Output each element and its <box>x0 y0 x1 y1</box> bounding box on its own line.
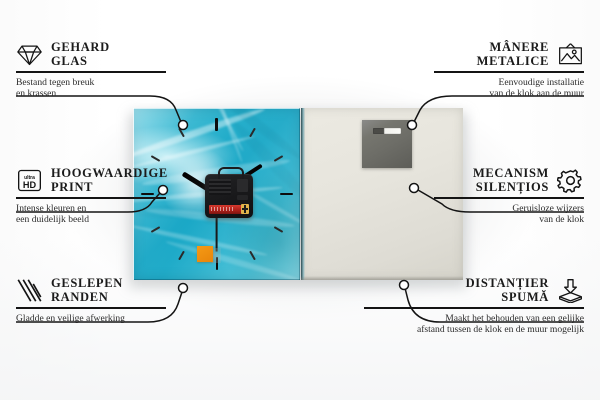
callout-rule <box>364 307 584 309</box>
movement-grill <box>209 179 231 195</box>
callout-distantier-spuma: DISTANȚIER SPUMĂ Maakt het behouden van … <box>364 276 584 336</box>
callout-geslepen-randen: GESLEPEN RANDEN Gladde en veilige afwerk… <box>16 276 166 324</box>
movement-chip <box>237 179 248 192</box>
clock-movement-part <box>205 174 253 218</box>
callout-title: GEHARD GLAS <box>51 40 110 68</box>
callout-subtitle: Eenvoudige installatie van de klok aan d… <box>434 77 584 100</box>
movement-chip-secondary <box>237 195 248 200</box>
callout-rule <box>16 307 166 309</box>
callout-manere-metalice: MÂNERE METALICE Eenvoudige installatie v… <box>434 40 584 100</box>
callout-title: GESLEPEN RANDEN <box>51 276 123 304</box>
panel-edge <box>301 108 305 280</box>
callout-subtitle: Intense kleuren en een duidelijk beeld <box>16 203 166 226</box>
product-infographic: GEHARD GLAS Bestand tegen breuk en krass… <box>0 0 600 400</box>
hanger-slot <box>373 128 401 134</box>
callout-rule <box>434 197 584 199</box>
callout-gehard-glas: GEHARD GLAS Bestand tegen breuk en krass… <box>16 40 166 100</box>
callout-subtitle: Maakt het behouden van een gelijke afsta… <box>364 313 584 336</box>
svg-text:HD: HD <box>23 180 37 190</box>
callout-title: DISTANȚIER SPUMĂ <box>364 276 549 304</box>
callout-subtitle: Geruisloze wijzers van de klok <box>434 203 584 226</box>
battery-label <box>211 207 235 211</box>
battery-terminal <box>241 204 249 214</box>
battery-part <box>209 205 245 214</box>
picture-frame-icon <box>557 42 584 67</box>
spacer-arrow-icon <box>557 278 584 303</box>
metal-hanger-part <box>362 120 412 168</box>
product-image <box>133 108 463 283</box>
callout-subtitle: Gladde en veilige afwerking <box>16 313 166 325</box>
callout-subtitle: Bestand tegen breuk en krassen <box>16 77 166 100</box>
callout-hoogwaardige-print: ultra HD HOOGWAARDIGE PRINT Intense kleu… <box>16 166 166 226</box>
callout-mecanism-silentios: MECANISM SILENȚIOS Geruisloze wijzers va… <box>434 166 584 226</box>
movement-hanger-loop <box>218 167 244 179</box>
callout-rule <box>16 71 166 73</box>
foam-spacer-part <box>197 246 213 262</box>
ultra-hd-icon: ultra HD <box>16 168 43 193</box>
callout-title: HOOGWAARDIGE PRINT <box>51 166 168 194</box>
callout-title: MECANISM SILENȚIOS <box>473 166 549 194</box>
callout-rule <box>434 71 584 73</box>
callout-rule <box>16 197 166 199</box>
bevelled-edges-icon <box>16 278 43 303</box>
gear-icon <box>557 168 584 193</box>
callout-title: MÂNERE METALICE <box>477 40 549 68</box>
diamond-icon <box>16 42 43 67</box>
